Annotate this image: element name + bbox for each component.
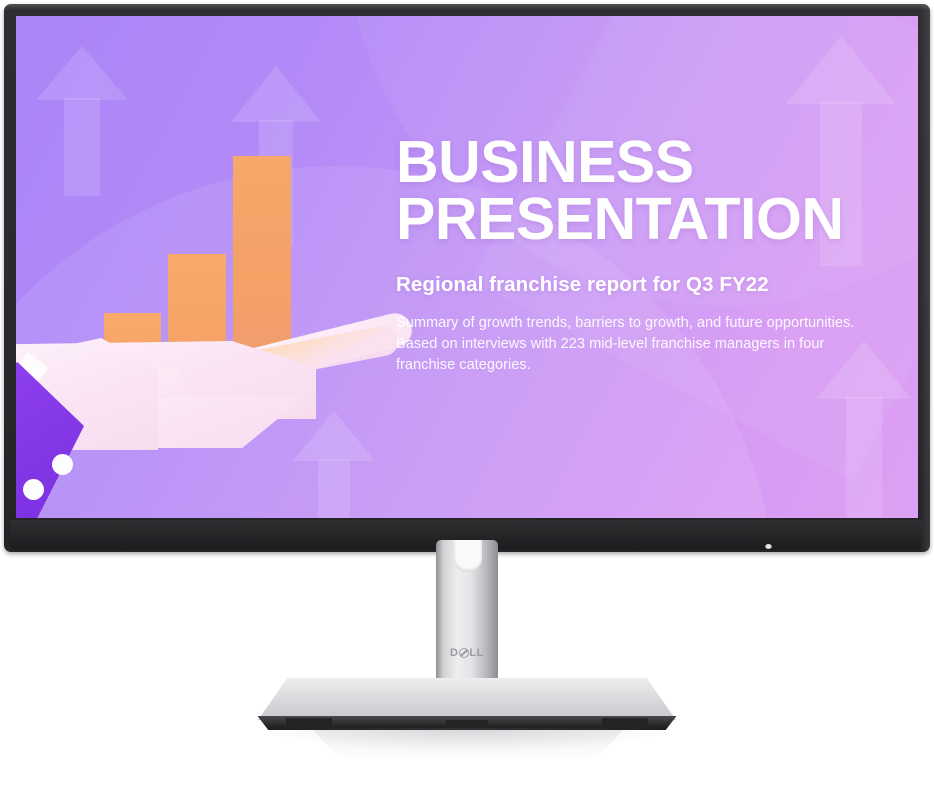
sleeve-button-top bbox=[52, 454, 73, 475]
screenshot-root: BUSINESS PRESENTATION Regional franchise… bbox=[0, 0, 934, 800]
dell-logo-letter-l2: L bbox=[477, 647, 484, 659]
slide-body-text: Summary of growth trends, barriers to gr… bbox=[396, 313, 858, 375]
bezel-top-highlight bbox=[4, 4, 930, 10]
base-foot-pad-right bbox=[602, 718, 648, 727]
base-drop-shadow bbox=[268, 728, 666, 752]
dell-brand-logo: DLL bbox=[436, 645, 498, 661]
hand-holding-growth-bars-illustration bbox=[16, 166, 396, 518]
base-foot-pad-left bbox=[286, 718, 332, 727]
slide-title: BUSINESS PRESENTATION bbox=[396, 134, 876, 247]
presentation-slide: BUSINESS PRESENTATION Regional franchise… bbox=[16, 16, 918, 518]
slide-text-block: BUSINESS PRESENTATION Regional franchise… bbox=[396, 134, 876, 375]
monitor-screen[interactable]: BUSINESS PRESENTATION Regional franchise… bbox=[16, 16, 918, 518]
dell-logo-letter-l1: L bbox=[469, 647, 476, 659]
power-led-indicator[interactable] bbox=[765, 544, 772, 549]
sleeve-button-bottom bbox=[23, 479, 44, 500]
dell-logo-letter-d: D bbox=[450, 647, 459, 659]
cable-management-hole bbox=[454, 540, 482, 572]
dell-logo-slashed-e-icon bbox=[459, 648, 469, 658]
slide-subtitle: Regional franchise report for Q3 FY22 bbox=[396, 273, 876, 297]
monitor-base-top bbox=[258, 678, 676, 720]
